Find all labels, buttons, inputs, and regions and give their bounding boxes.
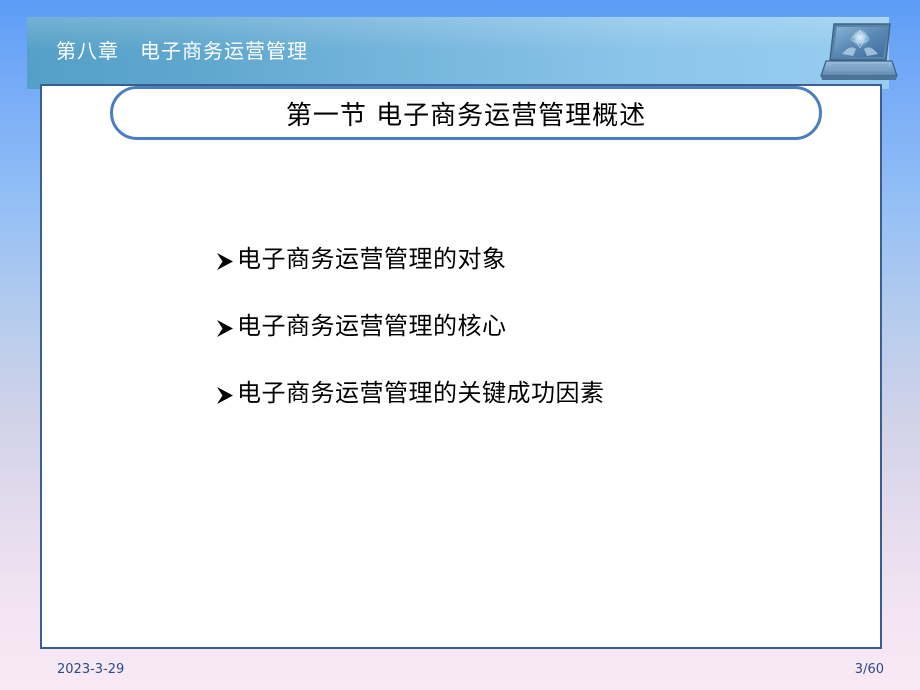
section-title-pill: 第一节 电子商务运营管理概述 (110, 86, 822, 140)
chapter-title: 第八章 电子商务运营管理 (56, 35, 308, 64)
laptop-computer-icon (820, 20, 898, 86)
arrow-bullet-icon (214, 380, 237, 410)
footer-date: 2023-3-29 (57, 662, 124, 677)
arrow-bullet-icon (214, 246, 237, 276)
bullet-list: 电子商务运营管理的对象 电子商务运营管理的核心 电子商务运营管理的关键成功因素 (214, 244, 814, 408)
list-item: 电子商务运营管理的对象 (214, 244, 814, 274)
section-title-text: 第一节 电子商务运营管理概述 (286, 95, 646, 132)
list-item-label: 电子商务运营管理的对象 (237, 244, 507, 274)
arrow-bullet-icon (214, 313, 237, 343)
list-item: 电子商务运营管理的关键成功因素 (214, 378, 814, 408)
list-item: 电子商务运营管理的核心 (214, 311, 814, 341)
presentation-slide: 第八章 电子商务运营管理 (0, 0, 920, 690)
footer-page-number: 3/60 (855, 662, 884, 677)
list-item-label: 电子商务运营管理的核心 (237, 311, 507, 341)
list-item-label: 电子商务运营管理的关键成功因素 (237, 378, 605, 408)
